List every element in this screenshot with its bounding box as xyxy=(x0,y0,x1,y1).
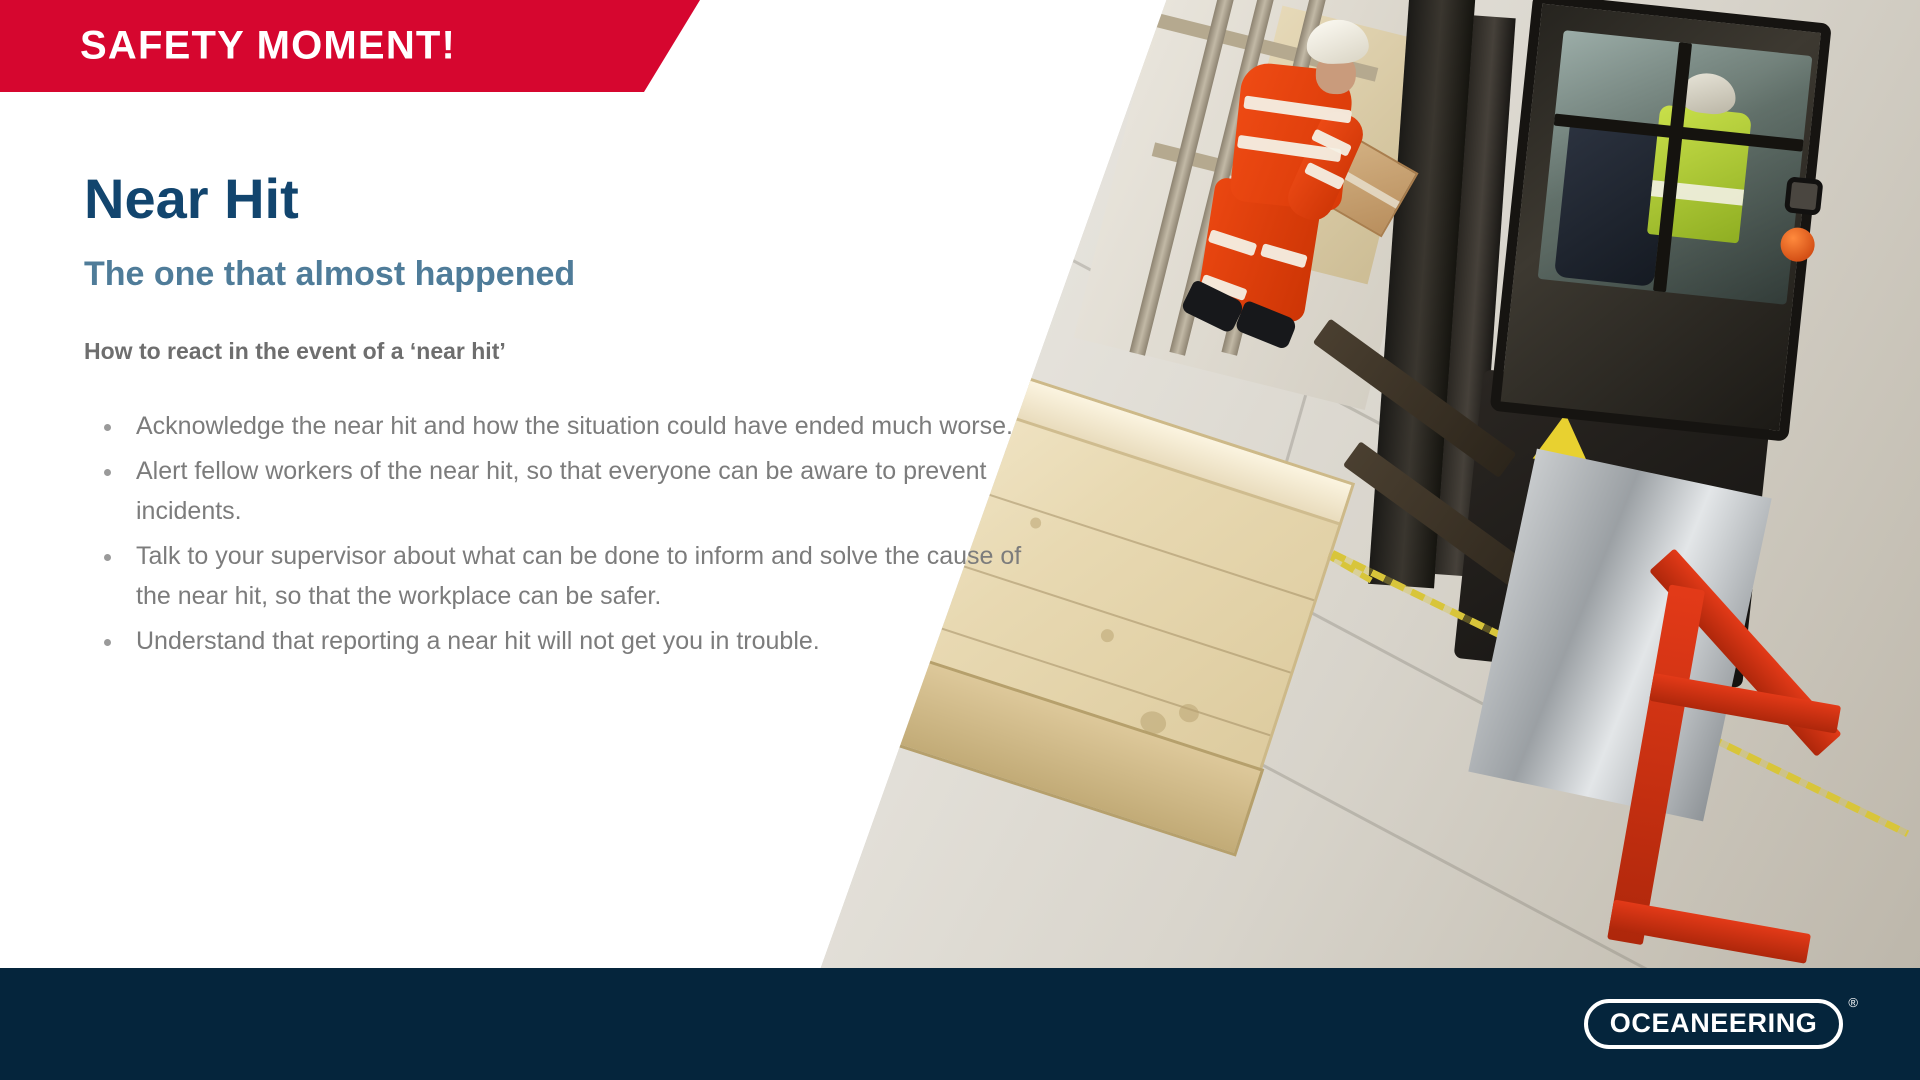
forklift-cab xyxy=(1490,0,1832,442)
banner-title: SAFETY MOMENT! xyxy=(80,24,456,69)
worker-hard-hat xyxy=(1306,19,1369,65)
list-item: Talk to your supervisor about what can b… xyxy=(84,537,1044,616)
wood-knot xyxy=(1099,627,1115,643)
safety-moment-slide: SAFETY MOMENT! Near Hit The one that alm… xyxy=(0,0,1920,1080)
slide-content: Near Hit The one that almost happened Ho… xyxy=(84,170,1044,668)
logo-text: OCEANEERING xyxy=(1584,999,1844,1049)
page-subtitle: The one that almost happened xyxy=(84,255,1044,294)
list-item: Alert fellow workers of the near hit, so… xyxy=(84,452,1044,531)
list-item: Understand that reporting a near hit wil… xyxy=(84,622,1044,662)
guidance-bullet-list: Acknowledge the near hit and how the sit… xyxy=(84,407,1044,662)
page-title: Near Hit xyxy=(84,170,1044,229)
slide-footer: OCEANEERING ® xyxy=(0,968,1920,1080)
safety-moment-banner: SAFETY MOMENT! xyxy=(0,0,700,92)
lead-question: How to react in the event of a ‘near hit… xyxy=(84,338,1044,365)
oceaneering-logo: OCEANEERING ® xyxy=(1584,999,1858,1049)
list-item: Acknowledge the near hit and how the sit… xyxy=(84,407,1044,447)
registered-trademark-icon: ® xyxy=(1848,995,1858,1010)
cab-mirror xyxy=(1784,176,1824,216)
